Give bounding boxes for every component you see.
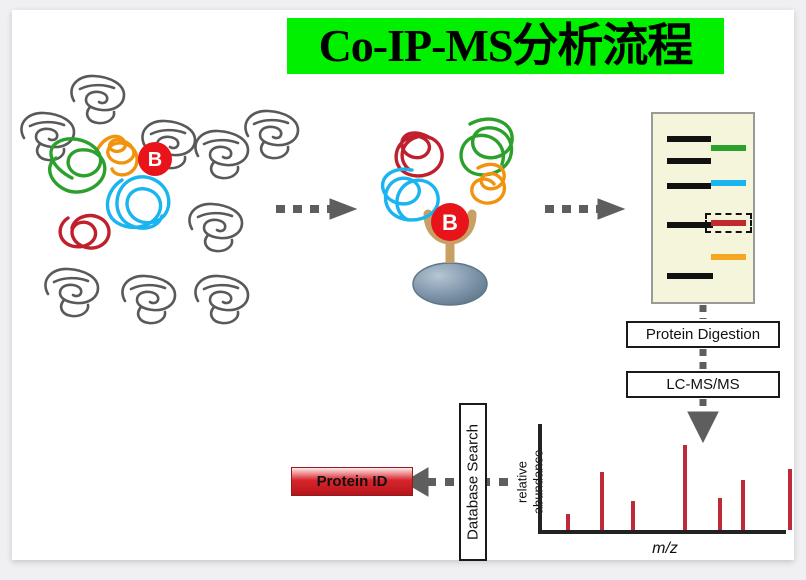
protein-digestion-label: Protein Digestion xyxy=(646,326,760,343)
spectrum-peak xyxy=(788,469,792,530)
page-title: Co-IP-MS分析流程 xyxy=(319,23,693,69)
spectrum-peak xyxy=(741,480,745,530)
gel-sample-band-orange xyxy=(711,254,746,260)
spectrum-y-axis xyxy=(538,424,542,534)
spectrum-peak xyxy=(631,501,635,530)
protein-id-label: Protein ID xyxy=(317,473,388,490)
spectrum-peak xyxy=(683,445,687,530)
spectrum-y-axis-label: relative abundance xyxy=(505,430,539,534)
database-search-box[interactable]: Database Search xyxy=(459,403,487,561)
lcmsms-label: LC-MS/MS xyxy=(666,376,739,393)
protein-id-result[interactable]: Protein ID xyxy=(291,467,413,496)
sds-page-gel xyxy=(651,112,755,304)
y-axis-label-line-1: relative xyxy=(515,439,530,525)
gel-marker-band xyxy=(667,158,711,164)
gel-marker-band xyxy=(667,183,711,189)
database-search-label: Database Search xyxy=(465,424,482,540)
gel-sample-band-red xyxy=(711,220,746,226)
spectrum-peak xyxy=(566,514,570,530)
figure-title-banner: Co-IP-MS分析流程 xyxy=(287,18,724,74)
diagram-canvas: Co-IP-MS分析流程 xyxy=(0,0,806,580)
mass-spectrum-chart xyxy=(538,424,786,534)
protein-digestion-box[interactable]: Protein Digestion xyxy=(626,321,780,348)
gel-marker-band xyxy=(667,273,713,279)
spectrum-peak xyxy=(600,472,604,530)
lcmsms-box[interactable]: LC-MS/MS xyxy=(626,371,780,398)
gel-marker-band xyxy=(667,136,711,142)
spectrum-x-axis xyxy=(538,530,786,534)
gel-sample-band-cyan xyxy=(711,180,746,186)
spectrum-x-axis-label: m/z xyxy=(600,540,730,558)
gel-sample-band-green xyxy=(711,145,746,151)
spectrum-peak xyxy=(718,498,722,530)
